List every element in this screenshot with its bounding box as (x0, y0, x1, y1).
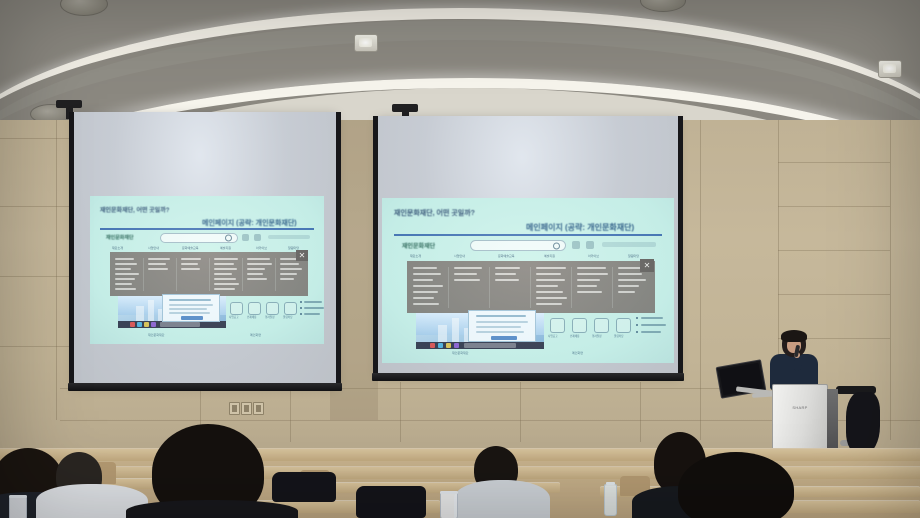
mega-menu (407, 261, 655, 313)
slide-footer-right: 메인화면 (572, 351, 583, 355)
slide-left: 재인문화재단, 어떤 곳일까? 메인페이지 (공략: 개인문화재단) 재인문화재… (90, 196, 324, 344)
podium-logo: SHARP (792, 405, 807, 410)
menu-item[interactable] (214, 263, 234, 265)
taskbar-icon (438, 343, 443, 348)
popup-title (169, 299, 211, 301)
menu-item[interactable] (536, 285, 558, 287)
slide-heading: 재인문화재단, 어떤 곳일까? (100, 205, 169, 214)
backpack (356, 486, 426, 518)
menu-item[interactable] (454, 273, 477, 275)
popup-title (476, 315, 526, 317)
bullet-dot (300, 301, 302, 303)
menu-item[interactable] (115, 263, 137, 265)
bullet-dot (300, 313, 302, 315)
taskbar-icon (454, 343, 459, 348)
popup-body-line (169, 312, 210, 314)
menu-item[interactable] (536, 291, 563, 293)
audience-shoulders (454, 480, 550, 518)
popup-body-line (476, 326, 521, 328)
popup-body-line (169, 308, 207, 310)
bullet-dot (636, 324, 638, 326)
menu-item[interactable] (413, 279, 433, 281)
partner-logos (602, 242, 656, 247)
menu-item[interactable] (536, 303, 562, 305)
menu-item[interactable] (115, 288, 136, 290)
menu-item[interactable] (214, 268, 237, 270)
menu-item[interactable] (536, 267, 566, 269)
wall-panel-seam (700, 120, 701, 440)
wall-panel-seam (778, 162, 890, 163)
menu-item[interactable] (454, 279, 480, 281)
menu-item[interactable] (413, 297, 434, 299)
screen-rail (336, 112, 341, 384)
nav-item[interactable]: 아카이브 (256, 246, 267, 250)
user-icon[interactable] (242, 234, 249, 241)
feature-label: 사업공고 (548, 334, 558, 338)
nav-item[interactable]: 재단소개 (410, 254, 421, 258)
menu-item[interactable] (618, 273, 642, 275)
menu-item[interactable] (115, 268, 131, 270)
taskbar-icon (446, 343, 451, 348)
menu-item[interactable] (536, 273, 561, 275)
slide-footer-right: 메인화면 (250, 333, 261, 337)
screenshot-building (148, 300, 154, 322)
slide-rule (394, 234, 662, 236)
mega-menu (110, 252, 308, 296)
screen-rail (69, 112, 74, 384)
user-icon[interactable] (248, 302, 261, 315)
nav-item[interactable]: 알림마당 (628, 254, 639, 258)
wall-outlet (241, 402, 252, 415)
nav-item[interactable]: 예술지원 (220, 246, 231, 250)
menu-item[interactable] (247, 258, 270, 260)
nav-item[interactable]: 문화예술교육 (182, 246, 199, 250)
drink-cup (9, 496, 27, 518)
menu-item[interactable] (495, 279, 519, 281)
menu-item[interactable] (115, 258, 134, 260)
feature-label: 인재채용 (570, 334, 580, 338)
menu-item[interactable] (577, 279, 600, 281)
menu-item[interactable] (247, 273, 263, 275)
audience-shoulders (126, 500, 298, 518)
feature-label: 사업공고 (229, 315, 239, 319)
wall-panel-seam (56, 120, 57, 420)
screenshot-taskbar (416, 342, 544, 349)
slide-section-title: 메인페이지 (공략: 개인문화재단) (526, 222, 634, 233)
lecture-hall-photo: 재인문화재단, 어떤 곳일까? 메인페이지 (공략: 개인문화재단) 재인문화재… (0, 0, 920, 518)
document-icon[interactable] (230, 302, 243, 315)
feature-label: 행사일정 (265, 315, 275, 319)
menu-item[interactable] (181, 268, 200, 270)
board-icon[interactable] (616, 318, 631, 333)
menu-item[interactable] (413, 273, 441, 275)
close-icon[interactable]: ✕ (640, 259, 654, 272)
menu-item[interactable] (214, 273, 232, 275)
bullet-dot (300, 307, 302, 309)
ceiling-spotlight-icon (878, 60, 902, 78)
backpack (272, 472, 336, 502)
nav-item[interactable]: 사업안내 (454, 254, 465, 258)
projection-screen-left: 재인문화재단, 어떤 곳일까? 메인페이지 (공략: 개인문화재단) 재인문화재… (74, 112, 336, 384)
menu-item[interactable] (280, 268, 302, 270)
taskbar-icon (430, 343, 435, 348)
menu-item[interactable] (181, 258, 201, 260)
presenter-hair-top (781, 330, 807, 342)
bullet-line (304, 307, 324, 309)
screenshot-taskbar (118, 321, 226, 328)
menu-item[interactable] (618, 279, 646, 281)
feature-label: 알림마당 (283, 315, 293, 319)
popup-body-line (476, 331, 524, 333)
menu-item[interactable] (280, 263, 299, 265)
screen-bottom-bar (372, 373, 684, 381)
menu-item[interactable] (536, 297, 567, 299)
menu-item[interactable] (247, 263, 272, 265)
user-icon[interactable] (572, 318, 587, 333)
menu-item[interactable] (577, 291, 602, 293)
menu-item[interactable] (115, 273, 139, 275)
feature-label: 알림마당 (614, 334, 624, 338)
taskbar-window (160, 322, 200, 327)
menu-item[interactable] (413, 303, 439, 305)
menu-item[interactable] (413, 291, 438, 293)
calendar-icon[interactable] (266, 302, 279, 315)
slide-section-title: 메인페이지 (공략: 개인문화재단) (202, 218, 297, 228)
bullet-line (641, 317, 663, 319)
projection-screen-right: 재인문화재단, 어떤 곳일까? 메인페이지 (공략: 개인문화재단) 재인문화재… (378, 116, 678, 374)
taskbar-icon (130, 322, 135, 327)
menu-item[interactable] (148, 258, 170, 260)
taskbar-icon (137, 322, 142, 327)
screenshot-building (136, 306, 144, 322)
wall-panel-seam (778, 294, 890, 295)
screen-bottom-bar (68, 383, 342, 391)
taskbar-icon (144, 322, 149, 327)
nav-item[interactable]: 사업안내 (148, 246, 159, 250)
wall-panel-seam (290, 382, 291, 442)
slide-footer-left: 재인문화재단 (148, 333, 165, 337)
menu-item[interactable] (618, 285, 639, 287)
bullet-line (641, 324, 666, 326)
search-icon (225, 235, 232, 242)
popup-dialog (468, 310, 536, 342)
floor-step (0, 448, 920, 461)
document-icon[interactable] (550, 318, 565, 333)
nav-item[interactable]: 예술지원 (544, 254, 555, 258)
user-icon[interactable] (572, 241, 580, 249)
globe-icon[interactable] (254, 234, 261, 241)
drink-cup (440, 492, 458, 518)
menu-item[interactable] (214, 288, 235, 290)
menu-item[interactable] (495, 267, 520, 269)
search-input[interactable] (470, 240, 566, 251)
ceiling-spotlight-icon (354, 34, 378, 52)
bullet-line (304, 313, 320, 315)
wall-panel-seam (400, 382, 401, 442)
bullet-dot (636, 317, 638, 319)
menu-item[interactable] (115, 283, 132, 285)
presenter (766, 331, 822, 389)
wall-panel-seam (640, 382, 641, 442)
search-input[interactable] (160, 233, 238, 243)
partner-logos (268, 235, 310, 239)
wall-outlet (253, 402, 264, 415)
close-icon[interactable]: ✕ (296, 250, 308, 261)
menu-item[interactable] (280, 278, 294, 280)
menu-item[interactable] (115, 278, 135, 280)
wall-panel-seam (778, 206, 890, 207)
menu-item[interactable] (214, 278, 236, 280)
wall-outlet (229, 402, 240, 415)
popup-dialog (162, 294, 220, 322)
menu-item[interactable] (214, 283, 239, 285)
screen-rail (678, 116, 683, 374)
site-logo: 재인문화재단 (106, 234, 134, 241)
screenshot-building (438, 325, 447, 343)
screenshot-building (452, 318, 459, 343)
screen-ceiling-mount (392, 104, 418, 112)
screen-rail (373, 116, 378, 374)
popup-body-line (476, 321, 528, 323)
screen-ceiling-mount (56, 100, 82, 108)
taskbar-icon (151, 322, 156, 327)
audience-head (678, 452, 794, 518)
globe-icon[interactable] (586, 241, 594, 249)
cup-lid (9, 495, 27, 498)
menu-item[interactable] (148, 268, 168, 270)
popup-button[interactable] (181, 316, 203, 320)
feature-label: 인재채용 (247, 315, 257, 319)
menu-item[interactable] (247, 268, 265, 270)
menu-item[interactable] (181, 263, 198, 265)
board-icon[interactable] (284, 302, 297, 315)
nav-item[interactable]: 아카이브 (588, 254, 599, 258)
bullet-line (641, 331, 661, 333)
slide-rule (100, 228, 314, 230)
menu-item[interactable] (454, 267, 482, 269)
wall-panel-seam (890, 120, 891, 440)
cup-lid (440, 491, 458, 494)
menu-item[interactable] (536, 279, 565, 281)
menu-item[interactable] (495, 273, 516, 275)
menu-item[interactable] (413, 267, 437, 269)
menu-item[interactable] (577, 273, 608, 275)
menu-item[interactable] (577, 267, 606, 269)
wall-panel-seam (520, 382, 521, 442)
calendar-icon[interactable] (594, 318, 609, 333)
coat-on-stool (846, 392, 880, 454)
menu-item[interactable] (280, 273, 297, 275)
menu-item[interactable] (247, 278, 267, 280)
wall-panel-seam (0, 138, 80, 139)
taskbar-window (464, 343, 516, 348)
menu-item[interactable] (214, 258, 238, 260)
search-icon (553, 242, 560, 249)
slide-heading: 재인문화재단, 어떤 곳일까? (394, 208, 475, 218)
menu-item[interactable] (618, 291, 635, 293)
nav-item[interactable]: 재단소개 (112, 246, 123, 250)
nav-item[interactable]: 문화예술교육 (498, 254, 515, 258)
wall-panel-seam (778, 250, 890, 251)
menu-item[interactable] (413, 285, 443, 287)
menu-item[interactable] (577, 285, 597, 287)
water-bottle (604, 484, 617, 516)
feature-label: 행사일정 (592, 334, 602, 338)
bullet-line (304, 301, 322, 303)
slide-right: 재인문화재단, 어떤 곳일까? 메인페이지 (공략: 개인문화재단) 재인문화재… (382, 198, 674, 363)
site-logo: 재인문화재단 (402, 241, 435, 250)
bottle-cap (606, 482, 615, 485)
bullet-dot (636, 331, 638, 333)
slide-footer-left: 재인문화재단 (452, 351, 469, 355)
popup-body-line (169, 304, 213, 306)
popup-button[interactable] (491, 336, 517, 340)
menu-item[interactable] (148, 263, 166, 265)
